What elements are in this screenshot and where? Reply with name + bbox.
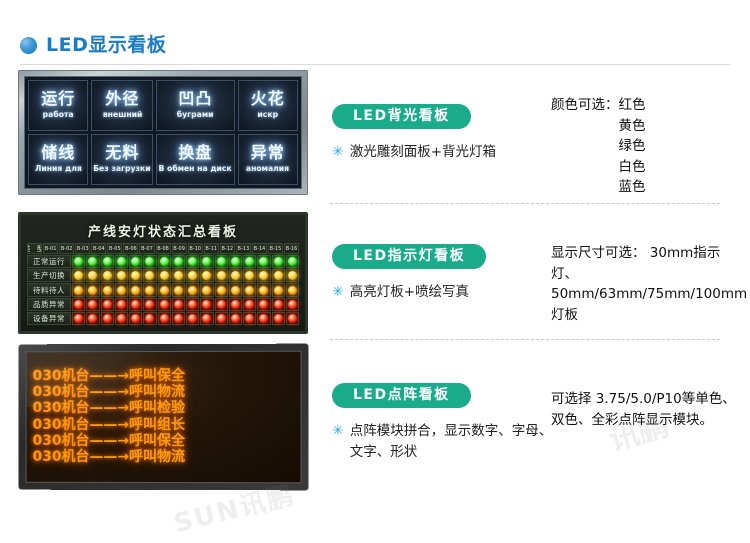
- andon-row: 生产切换: [27, 269, 299, 282]
- andon-lamp-red-icon: [231, 300, 240, 309]
- andon-column-header: B-06: [123, 243, 138, 254]
- andon-lamp-orange-icon: [245, 286, 254, 295]
- andon-lamp-green-icon: [259, 257, 268, 266]
- andon-row-label: 待料待人: [27, 283, 71, 296]
- andon-lamp-row: [72, 255, 299, 268]
- andon-lamp-orange-icon: [74, 286, 83, 295]
- dot-matrix-line: 030机台——→呼叫检验: [33, 401, 295, 416]
- andon-column-header: B-08: [156, 243, 171, 254]
- andon-lamp-red-icon: [174, 314, 183, 323]
- andon-lamp-cell: [186, 255, 199, 268]
- andon-lamp-row: [72, 283, 299, 296]
- section-divider-2: [330, 339, 720, 340]
- andon-lamp-cell: [101, 269, 114, 282]
- andon-row: 设备异常: [27, 312, 299, 325]
- andon-lamp-cell: [229, 255, 242, 268]
- backlit-cell: 异常 аномалия: [238, 134, 299, 185]
- andon-lamp-cell: [272, 283, 285, 296]
- andon-column-header: B-02: [59, 243, 74, 254]
- dot-matrix-line: 030机台——→呼叫保全: [33, 434, 295, 449]
- andon-lamp-green-icon: [131, 257, 140, 266]
- section-1-bullet-text: 激光雕刻面板+背光灯箱: [350, 142, 496, 162]
- andon-row-label: 生产切换: [27, 269, 71, 282]
- andon-lamp-cell: [101, 312, 114, 325]
- andon-lamp-amber-icon: [188, 271, 197, 280]
- pill-led-indicator-board: LED指示灯看板: [332, 244, 486, 269]
- andon-lamp-red-icon: [259, 314, 268, 323]
- andon-column-header: B-01: [43, 243, 58, 254]
- andon-lamp-cell: [158, 312, 171, 325]
- backlit-cell-cn: 外径: [105, 91, 139, 108]
- andon-lamp-red-icon: [131, 300, 140, 309]
- andon-lamp-green-icon: [188, 257, 197, 266]
- backlit-cell-ru: буграми: [177, 110, 214, 120]
- andon-lamp-orange-icon: [103, 286, 112, 295]
- andon-lamp-cell: [101, 298, 114, 311]
- asterisk-icon: ✳: [332, 142, 344, 162]
- andon-lamp-cell: [272, 255, 285, 268]
- product-image-dot-matrix-board: 030机台——→呼叫保全030机台——→呼叫物流030机台——→呼叫检验030机…: [18, 344, 308, 490]
- backlit-cell-cn: 火花: [251, 91, 285, 108]
- spec-option: 蓝色: [619, 179, 646, 195]
- andon-lamp-red-icon: [288, 314, 297, 323]
- andon-lamp-cell: [215, 312, 228, 325]
- andon-lamp-amber-icon: [174, 271, 183, 280]
- andon-column-header: B-05: [107, 243, 122, 254]
- andon-lamp-cell: [172, 312, 185, 325]
- andon-lamp-red-icon: [202, 314, 211, 323]
- andon-lamp-cell: [72, 255, 85, 268]
- andon-lamp-green-icon: [217, 257, 226, 266]
- andon-lamp-green-icon: [74, 257, 83, 266]
- andon-lamp-cell: [229, 298, 242, 311]
- andon-lamp-cell: [186, 312, 199, 325]
- backlit-cell-ru: Линия для: [35, 164, 82, 174]
- andon-lamp-cell: [172, 283, 185, 296]
- spec-option: 白色: [619, 159, 646, 175]
- pill-led-dot-matrix-board: LED点阵看板: [332, 383, 471, 408]
- andon-lamp-cell: [101, 283, 114, 296]
- andon-lamp-cell: [172, 298, 185, 311]
- andon-corner-header: 类 型: [27, 243, 42, 254]
- product-image-backlit-board: 运行 работа 外径 внешний 凹凸 буграми 火花 искр …: [18, 70, 308, 195]
- andon-lamp-cell: [286, 269, 299, 282]
- andon-lamp-orange-icon: [274, 286, 283, 295]
- andon-lamp-orange-icon: [160, 286, 169, 295]
- spec-option: 红色: [619, 97, 646, 113]
- section-1-spec: 颜色可选：红色黄色绿色白色蓝色: [551, 95, 646, 198]
- andon-lamp-cell: [115, 312, 128, 325]
- andon-row-label: 正常运行: [27, 255, 71, 268]
- andon-lamp-red-icon: [145, 314, 154, 323]
- backlit-cell-ru: внешний: [103, 110, 143, 120]
- andon-lamp-red-icon: [245, 314, 254, 323]
- page-title: LED显示看板: [46, 36, 166, 55]
- andon-lamp-green-icon: [245, 257, 254, 266]
- asterisk-icon: ✳: [332, 421, 344, 441]
- andon-column-header: B-11: [204, 243, 219, 254]
- backlit-cell: 储线 Линия для: [28, 134, 88, 185]
- andon-lamp-orange-icon: [145, 286, 154, 295]
- andon-lamp-cell: [257, 255, 270, 268]
- andon-lamp-cell: [86, 298, 99, 311]
- andon-lamp-cell: [215, 269, 228, 282]
- dot-matrix-frame: 030机台——→呼叫保全030机台——→呼叫物流030机台——→呼叫检验030机…: [19, 344, 309, 491]
- backlit-cell: 外径 внешний: [91, 80, 153, 131]
- andon-lamp-cell: [186, 269, 199, 282]
- andon-lamp-cell: [243, 255, 256, 268]
- andon-lamp-cell: [243, 283, 256, 296]
- andon-lamp-cell: [72, 298, 85, 311]
- backlit-cell-cn: 无料: [105, 145, 139, 162]
- andon-row: 待料待人: [27, 283, 299, 296]
- andon-column-header: B-04: [91, 243, 106, 254]
- dot-matrix-line: 030机台——→呼叫物流: [33, 385, 295, 400]
- andon-lamp-red-icon: [145, 300, 154, 309]
- dot-matrix-screen: 030机台——→呼叫保全030机台——→呼叫物流030机台——→呼叫检验030机…: [26, 351, 302, 484]
- andon-lamp-cell: [158, 298, 171, 311]
- andon-lamp-cell: [257, 312, 270, 325]
- andon-lamp-row: [72, 269, 299, 282]
- andon-lamp-red-icon: [245, 300, 254, 309]
- section-3-bullet-text: 点阵模块拼合，显示数字、字母、文字、形状: [350, 421, 558, 462]
- andon-lamp-cell: [158, 269, 171, 282]
- andon-lamp-cell: [115, 269, 128, 282]
- backlit-cell-cn: 异常: [251, 145, 285, 162]
- andon-lamp-red-icon: [274, 300, 283, 309]
- andon-lamp-amber-icon: [202, 271, 211, 280]
- section-2-labels: LED指示灯看板 ✳ 高亮灯板+喷绘写真: [332, 244, 486, 303]
- andon-lamp-cell: [200, 298, 213, 311]
- andon-lamp-red-icon: [160, 314, 169, 323]
- andon-lamp-green-icon: [288, 257, 297, 266]
- andon-row: 品质异常: [27, 298, 299, 311]
- andon-lamp-cell: [286, 255, 299, 268]
- andon-lamp-red-icon: [202, 300, 211, 309]
- section-2-bullet: ✳ 高亮灯板+喷绘写真: [332, 282, 486, 302]
- andon-lamp-amber-icon: [259, 271, 268, 280]
- andon-lamp-red-icon: [131, 314, 140, 323]
- blue-sphere-icon: [20, 37, 37, 54]
- andon-lamp-green-icon: [202, 257, 211, 266]
- andon-lamp-green-icon: [174, 257, 183, 266]
- andon-lamp-cell: [229, 283, 242, 296]
- andon-lamp-cell: [115, 255, 128, 268]
- section-3-spec: 可选择 3.75/5.0/P10等单色、双色、全彩点阵显示模块。: [551, 389, 747, 430]
- andon-lamp-red-icon: [217, 300, 226, 309]
- andon-lamp-cell: [115, 298, 128, 311]
- andon-row-label: 设备异常: [27, 312, 71, 325]
- andon-lamp-cell: [143, 283, 156, 296]
- section-1-spec-label: 颜色可选：: [551, 97, 619, 113]
- backlit-board-frame: 运行 работа 外径 внешний 凹凸 буграми 火花 искр …: [18, 70, 308, 195]
- andon-lamp-cell: [200, 255, 213, 268]
- backlit-cell-ru: В обмен на диск: [159, 164, 232, 174]
- andon-board-grid: 类 型B-01B-02B-03B-04B-05B-06B-07B-08B-09B…: [27, 243, 299, 325]
- andon-lamp-cell: [229, 312, 242, 325]
- backlit-cell-ru: аномалия: [246, 164, 289, 174]
- andon-lamp-cell: [143, 269, 156, 282]
- page-header: LED显示看板: [20, 36, 166, 55]
- backlit-cell-cn: 凹凸: [178, 91, 212, 108]
- pill-led-backlit-board: LED背光看板: [332, 104, 471, 129]
- andon-column-header: B-12: [220, 243, 235, 254]
- andon-lamp-red-icon: [74, 300, 83, 309]
- andon-lamp-cell: [172, 255, 185, 268]
- andon-lamp-cell: [257, 298, 270, 311]
- andon-lamp-row: [72, 298, 299, 311]
- andon-lamp-red-icon: [231, 314, 240, 323]
- andon-lamp-cell: [286, 283, 299, 296]
- andon-board-title: 产线安灯状态汇总看板: [27, 221, 299, 240]
- andon-lamp-amber-icon: [288, 271, 297, 280]
- andon-lamp-cell: [229, 269, 242, 282]
- andon-lamp-cell: [215, 283, 228, 296]
- andon-lamp-amber-icon: [88, 271, 97, 280]
- andon-column-header: B-03: [75, 243, 90, 254]
- spec-option: 黄色: [619, 118, 646, 134]
- andon-lamp-cell: [243, 298, 256, 311]
- andon-lamp-cell: [86, 255, 99, 268]
- andon-lamp-green-icon: [117, 257, 126, 266]
- andon-lamp-cell: [215, 255, 228, 268]
- andon-lamp-cell: [129, 312, 142, 325]
- andon-lamp-cell: [186, 298, 199, 311]
- backlit-cell: 无料 Без загрузки: [91, 134, 153, 185]
- andon-lamp-red-icon: [274, 314, 283, 323]
- andon-lamp-red-icon: [88, 300, 97, 309]
- andon-lamp-orange-icon: [131, 286, 140, 295]
- andon-lamp-orange-icon: [231, 286, 240, 295]
- section-1-spec-options: 红色黄色绿色白色蓝色: [619, 95, 646, 198]
- andon-lamp-red-icon: [88, 314, 97, 323]
- andon-lamp-red-icon: [188, 314, 197, 323]
- backlit-cell: 凹凸 буграми: [156, 80, 234, 131]
- andon-lamp-red-icon: [103, 314, 112, 323]
- andon-column-header: B-13: [236, 243, 251, 254]
- andon-lamp-green-icon: [103, 257, 112, 266]
- andon-lamp-cell: [286, 312, 299, 325]
- section-1-bullet: ✳ 激光雕刻面板+背光灯箱: [332, 142, 496, 162]
- andon-lamp-cell: [86, 312, 99, 325]
- andon-column-header: B-10: [188, 243, 203, 254]
- andon-lamp-cell: [143, 255, 156, 268]
- andon-lamp-amber-icon: [103, 271, 112, 280]
- andon-lamp-cell: [158, 255, 171, 268]
- dot-matrix-line: 030机台——→呼叫物流: [33, 450, 295, 465]
- andon-lamp-cell: [200, 312, 213, 325]
- andon-lamp-cell: [143, 298, 156, 311]
- andon-lamp-amber-icon: [117, 271, 126, 280]
- andon-lamp-green-icon: [274, 257, 283, 266]
- andon-row: 正常运行: [27, 255, 299, 268]
- andon-lamp-cell: [115, 283, 128, 296]
- andon-lamp-cell: [72, 283, 85, 296]
- spec-option: 绿色: [619, 138, 646, 154]
- andon-lamp-cell: [286, 298, 299, 311]
- andon-lamp-cell: [129, 298, 142, 311]
- andon-lamp-cell: [243, 269, 256, 282]
- andon-lamp-cell: [101, 255, 114, 268]
- dot-matrix-line: 030机台——→呼叫保全: [33, 369, 295, 384]
- andon-lamp-green-icon: [145, 257, 154, 266]
- andon-lamp-orange-icon: [259, 286, 268, 295]
- backlit-cell-ru: искр: [257, 110, 278, 120]
- andon-header-row: 类 型B-01B-02B-03B-04B-05B-06B-07B-08B-09B…: [27, 243, 299, 254]
- andon-lamp-red-icon: [117, 300, 126, 309]
- backlit-cell-cn: 运行: [41, 91, 75, 108]
- andon-lamp-orange-icon: [202, 286, 211, 295]
- page-root: LED显示看板 运行 работа 外径 внешний 凹凸 буграми: [0, 0, 750, 543]
- section-3-labels: LED点阵看板 ✳ 点阵模块拼合，显示数字、字母、文字、形状: [332, 383, 558, 462]
- andon-lamp-cell: [72, 312, 85, 325]
- andon-row-label: 品质异常: [27, 298, 71, 311]
- andon-lamp-cell: [72, 269, 85, 282]
- andon-lamp-cell: [272, 298, 285, 311]
- andon-lamp-cell: [272, 269, 285, 282]
- andon-lamp-cell: [186, 283, 199, 296]
- andon-lamp-amber-icon: [131, 271, 140, 280]
- andon-lamp-red-icon: [103, 300, 112, 309]
- andon-lamp-amber-icon: [245, 271, 254, 280]
- andon-column-header: B-07: [139, 243, 154, 254]
- andon-lamp-green-icon: [88, 257, 97, 266]
- andon-lamp-amber-icon: [231, 271, 240, 280]
- andon-lamp-red-icon: [217, 314, 226, 323]
- product-image-andon-board: 产线安灯状态汇总看板 类 型B-01B-02B-03B-04B-05B-06B-…: [18, 212, 308, 334]
- backlit-cell: 换盘 В обмен на диск: [156, 134, 234, 185]
- andon-lamp-red-icon: [160, 300, 169, 309]
- backlit-cell: 运行 работа: [28, 80, 88, 131]
- andon-lamp-cell: [129, 283, 142, 296]
- andon-lamp-cell: [215, 298, 228, 311]
- asterisk-icon: ✳: [332, 282, 344, 302]
- backlit-cell-cn: 换盘: [178, 145, 212, 162]
- andon-lamp-red-icon: [288, 300, 297, 309]
- andon-lamp-amber-icon: [74, 271, 83, 280]
- andon-lamp-cell: [272, 312, 285, 325]
- andon-lamp-amber-icon: [274, 271, 283, 280]
- backlit-cell-cn: 储线: [41, 145, 75, 162]
- andon-lamp-red-icon: [174, 300, 183, 309]
- section-2-spec: 显示尺寸可选： 30mm指示灯、50mm/63mm/75mm/100mm灯板: [551, 243, 747, 325]
- andon-column-header: B-14: [252, 243, 267, 254]
- andon-lamp-green-icon: [160, 257, 169, 266]
- andon-lamp-cell: [200, 269, 213, 282]
- andon-lamp-amber-icon: [217, 271, 226, 280]
- andon-column-header: B-16: [284, 243, 299, 254]
- andon-lamp-cell: [257, 269, 270, 282]
- andon-lamp-cell: [172, 269, 185, 282]
- andon-lamp-cell: [158, 283, 171, 296]
- andon-lamp-cell: [129, 269, 142, 282]
- andon-column-header: B-09: [172, 243, 187, 254]
- section-2-bullet-text: 高亮灯板+喷绘写真: [350, 282, 469, 302]
- andon-lamp-cell: [86, 283, 99, 296]
- andon-lamp-cell: [200, 283, 213, 296]
- andon-lamp-cell: [257, 283, 270, 296]
- andon-board-frame: 产线安灯状态汇总看板 类 型B-01B-02B-03B-04B-05B-06B-…: [18, 212, 308, 334]
- andon-lamp-row: [72, 312, 299, 325]
- section-divider-1: [330, 203, 720, 204]
- backlit-cell-ru: Без загрузки: [94, 164, 151, 174]
- andon-lamp-cell: [243, 312, 256, 325]
- andon-lamp-orange-icon: [117, 286, 126, 295]
- section-3-bullet: ✳ 点阵模块拼合，显示数字、字母、文字、形状: [332, 421, 558, 462]
- andon-lamp-amber-icon: [145, 271, 154, 280]
- andon-lamp-orange-icon: [217, 286, 226, 295]
- backlit-cell-ru: работа: [43, 110, 74, 120]
- andon-lamp-cell: [86, 269, 99, 282]
- backlit-board-grid: 运行 работа 外径 внешний 凹凸 буграми 火花 искр …: [24, 76, 302, 189]
- andon-lamp-orange-icon: [88, 286, 97, 295]
- andon-column-header: B-15: [268, 243, 283, 254]
- andon-lamp-orange-icon: [188, 286, 197, 295]
- andon-lamp-red-icon: [188, 300, 197, 309]
- andon-lamp-red-icon: [259, 300, 268, 309]
- andon-lamp-orange-icon: [288, 286, 297, 295]
- andon-lamp-cell: [143, 312, 156, 325]
- andon-lamp-cell: [129, 255, 142, 268]
- section-1-labels: LED背光看板 ✳ 激光雕刻面板+背光灯箱: [332, 104, 496, 163]
- dot-matrix-line: 030机台——→呼叫组长: [33, 417, 295, 432]
- header-divider: [20, 64, 730, 65]
- andon-lamp-green-icon: [231, 257, 240, 266]
- andon-lamp-amber-icon: [160, 271, 169, 280]
- andon-lamp-red-icon: [74, 314, 83, 323]
- backlit-cell: 火花 искр: [238, 80, 299, 131]
- andon-lamp-orange-icon: [174, 286, 183, 295]
- andon-lamp-red-icon: [117, 314, 126, 323]
